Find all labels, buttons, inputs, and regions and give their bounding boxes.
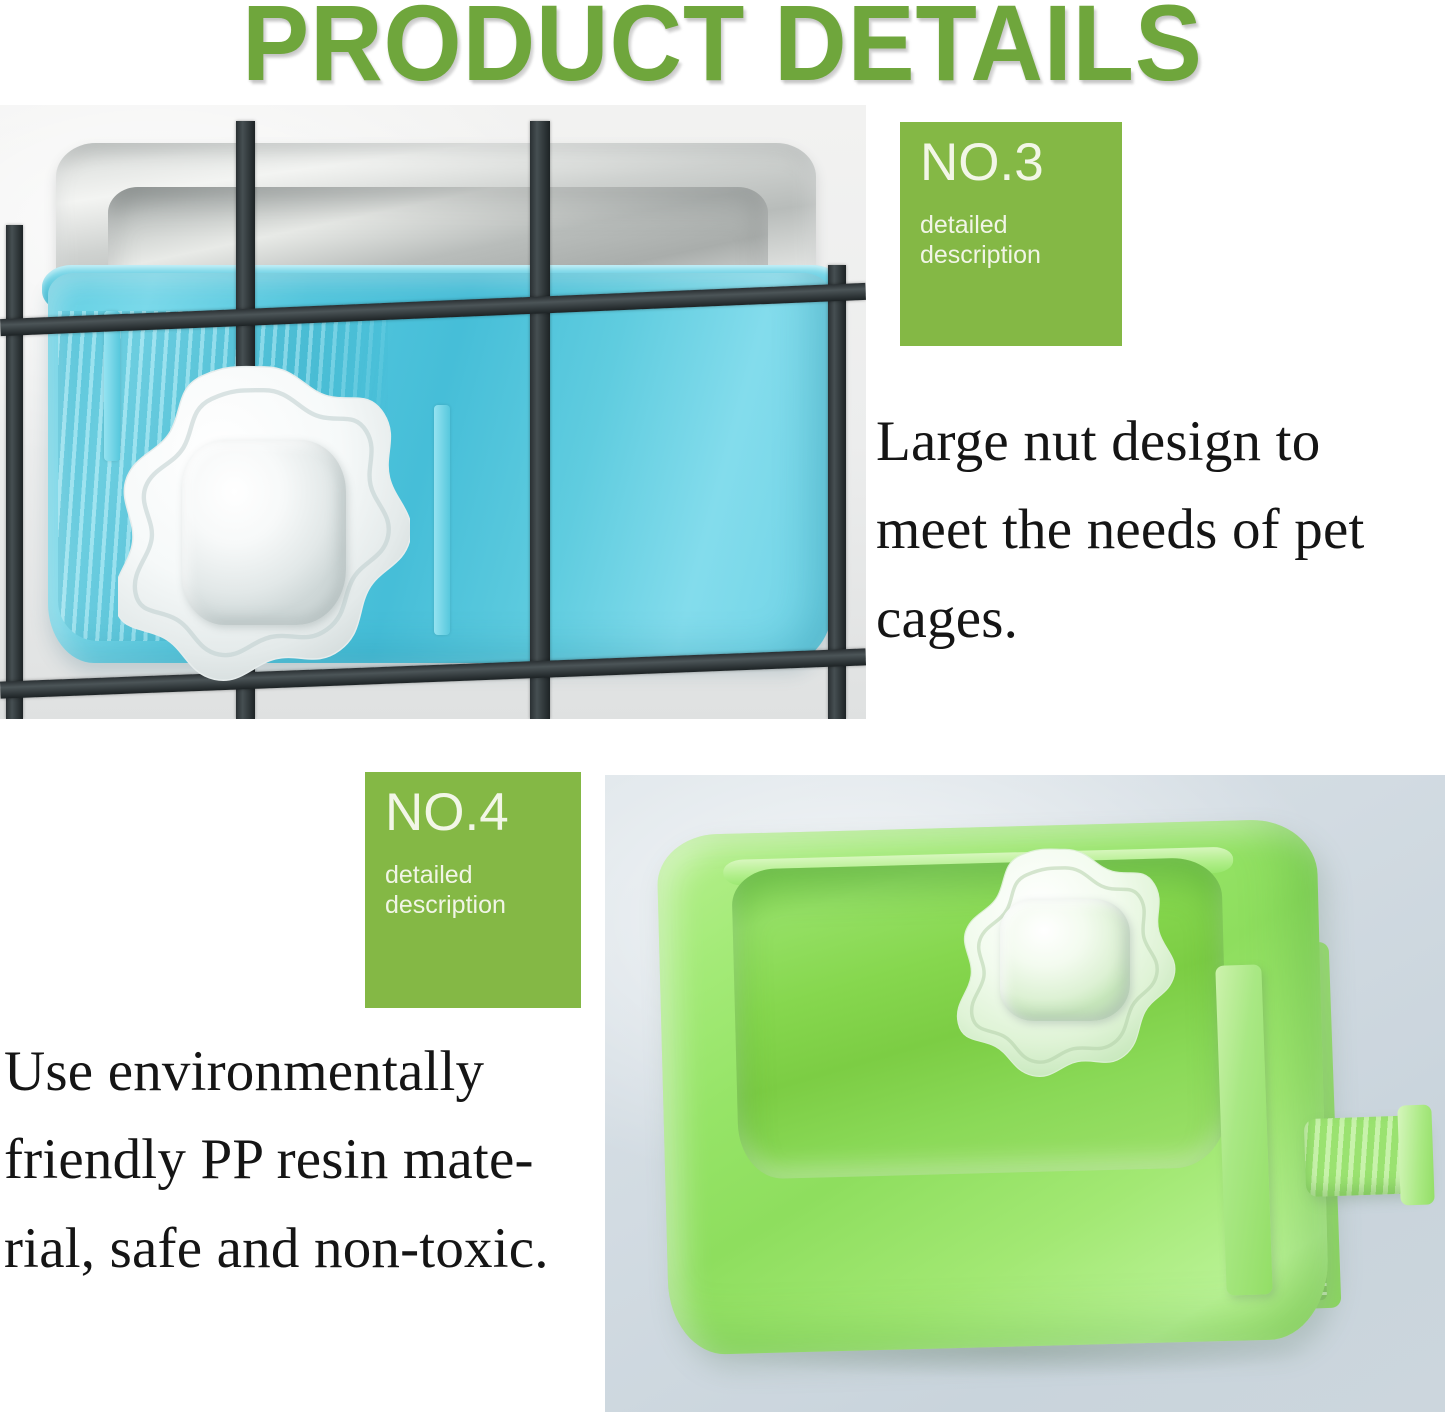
screw-head <box>1397 1104 1434 1205</box>
badge-no4-subtitle-line1: detailed <box>385 860 565 890</box>
product-photo-no3 <box>0 105 866 719</box>
badge-no3: NO.3 detailed description <box>900 122 1122 346</box>
badge-no4-number: NO.4 <box>385 786 565 840</box>
white-wingnut-knob <box>118 361 410 691</box>
badge-no4: NO.4 detailed description <box>365 772 581 1008</box>
cage-wire-vertical-1 <box>6 225 23 719</box>
green-bowl-knob <box>949 847 1181 1065</box>
description-no4-line-2: friendly PP resin mate- <box>4 1116 590 1204</box>
page-title: PRODUCT DETAILS <box>51 0 1395 99</box>
badge-no4-subtitle-line2: description <box>385 890 565 920</box>
badge-no4-subtitle: detailed description <box>385 860 565 920</box>
product-photo-no4 <box>605 775 1445 1412</box>
badge-no3-subtitle: detailed description <box>920 210 1106 270</box>
description-no3: Large nut design to meet the needs of pe… <box>876 398 1442 663</box>
green-knob-center-cap <box>1000 899 1130 1021</box>
badge-no3-subtitle-line2: description <box>920 240 1106 270</box>
knob-center-cap <box>182 440 346 625</box>
cage-wire-vertical-3 <box>530 121 550 719</box>
badge-no3-subtitle-line1: detailed <box>920 210 1106 240</box>
description-no4: Use environmentally friendly PP resin ma… <box>4 1028 590 1293</box>
blue-holder-tab-right <box>434 405 450 635</box>
badge-no3-number: NO.3 <box>920 136 1106 190</box>
description-no4-line-1: Use environmentally <box>4 1028 590 1116</box>
description-no4-line-3: rial, safe and non-toxic. <box>4 1205 590 1293</box>
